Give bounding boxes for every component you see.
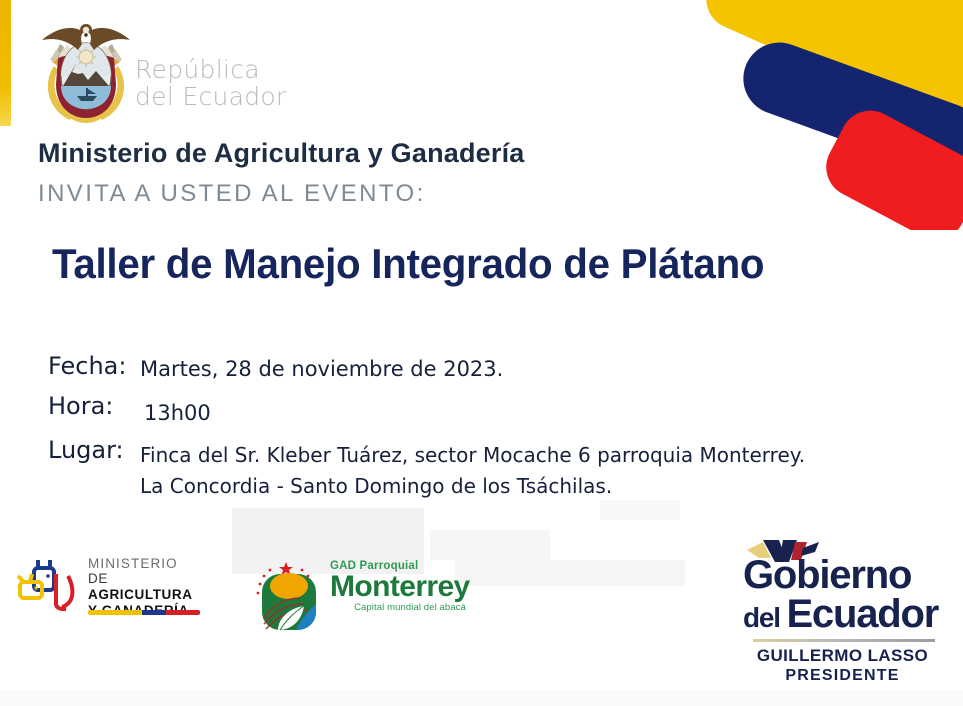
detail-row-hora: Hora: 13h00 xyxy=(48,392,805,428)
left-yellow-accent-bar xyxy=(0,0,11,126)
mag-emblem-icon xyxy=(16,554,84,614)
event-title: Taller de Manejo Integrado de Plátano xyxy=(52,240,764,288)
president-title: PRESIDENTE xyxy=(745,667,940,685)
monterrey-logo-text: GAD Parroquial Monterrey Capital mundial… xyxy=(330,560,490,613)
detail-label-fecha: Fecha: xyxy=(48,352,140,380)
ministry-agriculture-logo: MINISTERIO DE AGRICULTURA Y GANADERÍA xyxy=(16,548,206,626)
detail-row-fecha: Fecha: Martes, 28 de noviembre de 2023. xyxy=(48,352,805,384)
monterrey-line-2: Monterrey xyxy=(330,571,490,603)
gobierno-line-2-main: Ecuador xyxy=(786,592,938,636)
detail-value-lugar-line1: Finca del Sr. Kleber Tuárez, sector Moca… xyxy=(140,440,805,471)
president-name: GUILLERMO LASSO xyxy=(745,646,940,666)
mag-line-2-bold: AGRICULTURA xyxy=(88,587,193,602)
mag-tricolor-bar xyxy=(88,610,200,615)
mag-bar-yellow xyxy=(88,610,142,615)
gad-monterrey-logo: GAD Parroquial Monterrey Capital mundial… xyxy=(252,552,452,632)
invitation-flyer: República del Ecuador Ministerio de Agri… xyxy=(0,0,963,706)
detail-label-lugar: Lugar: xyxy=(48,436,140,464)
gobierno-line-1: Gobierno xyxy=(743,554,911,596)
gobierno-line-2-prefix: del xyxy=(743,602,786,633)
ministry-name: Ministerio de Agricultura y Ganadería xyxy=(38,138,525,169)
mag-bar-blue xyxy=(142,610,167,615)
detail-value-hora: 13h00 xyxy=(140,392,211,428)
event-details: Fecha: Martes, 28 de noviembre de 2023. … xyxy=(48,352,805,502)
republic-label: República del Ecuador xyxy=(135,56,287,110)
gobierno-ecuador-logo: Gobierno del Ecuador GUILLERMO LASSO PRE… xyxy=(735,536,945,686)
mag-bar-red xyxy=(166,610,200,615)
monterrey-line-3: Capital mundial del abacá xyxy=(330,602,490,613)
republic-line-2: del Ecuador xyxy=(135,83,287,110)
ecuador-coat-of-arms-icon xyxy=(36,14,136,129)
gobierno-line-2: del Ecuador xyxy=(743,593,938,639)
monterrey-emblem-icon xyxy=(252,560,326,632)
invitation-line: INVITA A USTED AL EVENTO: xyxy=(38,180,426,208)
background-artifact xyxy=(0,690,963,706)
detail-value-lugar-line2: La Concordia - Santo Domingo de los Tsác… xyxy=(140,471,805,502)
background-artifact xyxy=(600,500,680,520)
mag-line-2-prefix: DE xyxy=(88,571,108,586)
republic-line-1: República xyxy=(135,56,287,83)
mag-line-1: MINISTERIO xyxy=(88,556,206,571)
detail-label-hora: Hora: xyxy=(48,392,140,420)
tricolor-ribbon-decoration xyxy=(683,0,963,230)
mag-line-2: DE AGRICULTURA xyxy=(88,571,206,603)
detail-value-lugar: Finca del Sr. Kleber Tuárez, sector Moca… xyxy=(140,436,805,502)
detail-value-fecha: Martes, 28 de noviembre de 2023. xyxy=(140,352,503,384)
detail-row-lugar: Lugar: Finca del Sr. Kleber Tuárez, sect… xyxy=(48,436,805,502)
gobierno-divider xyxy=(753,639,935,642)
